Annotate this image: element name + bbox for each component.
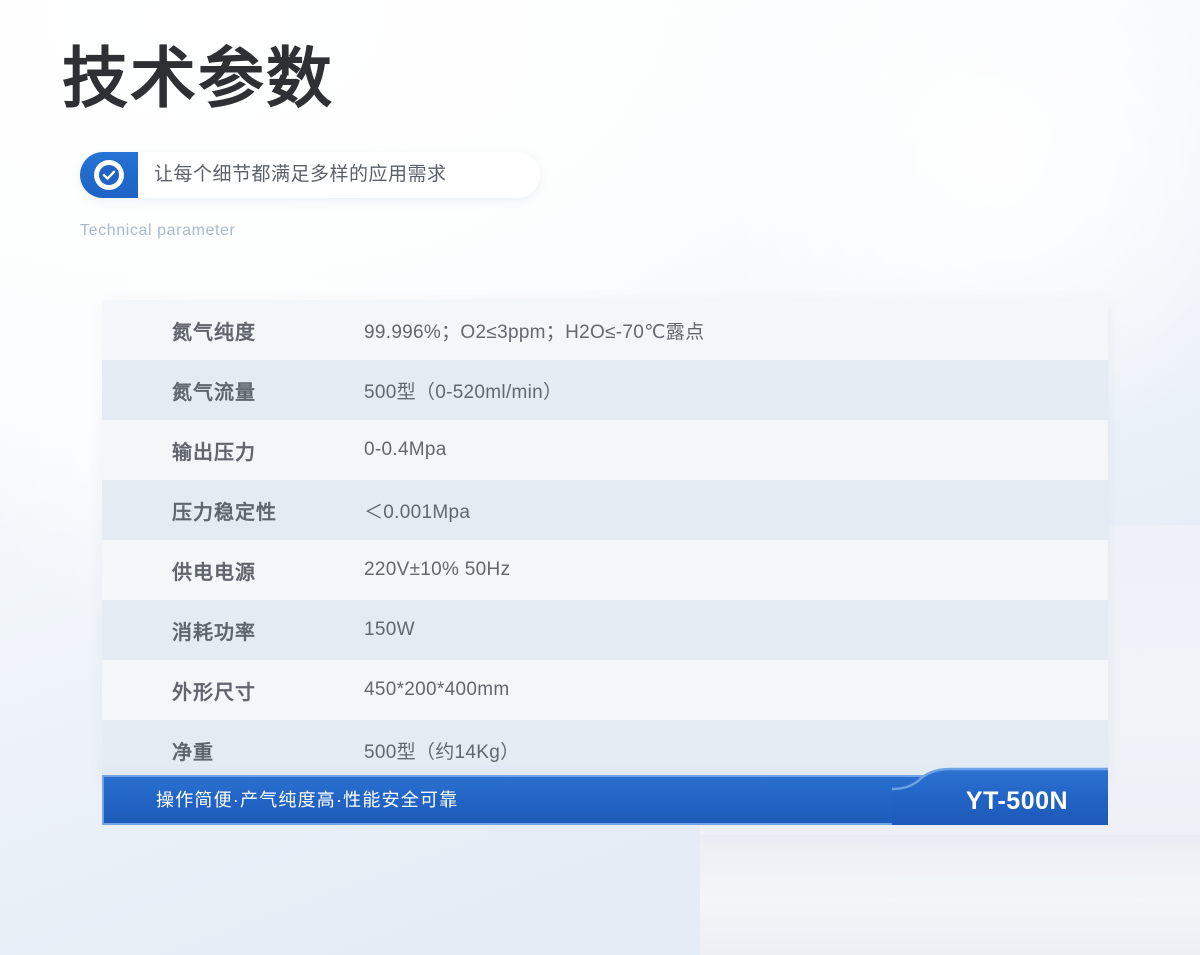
subtitle-text: 让每个细节都满足多样的应用需求 xyxy=(154,152,447,198)
table-row: 供电电源 220V±10% 50Hz xyxy=(102,540,1108,600)
table-row: 压力稳定性 ＜0.001Mpa xyxy=(102,480,1108,540)
table-row: 氮气流量 500型（0-520ml/min） xyxy=(102,360,1108,420)
page-title: 技术参数 xyxy=(62,46,334,112)
spec-label: 供电电源 xyxy=(102,556,332,585)
model-badge: YT-500N xyxy=(892,765,1108,827)
spec-value: 0-0.4Mpa xyxy=(332,439,1108,461)
spec-label: 氮气纯度 xyxy=(102,316,332,345)
spec-value: 150W xyxy=(332,619,1108,641)
photo-bench-surface xyxy=(700,835,1200,955)
spec-value: 500型（0-520ml/min） xyxy=(332,377,1108,404)
spec-value: 220V±10% 50Hz xyxy=(332,559,1108,581)
spec-label: 氮气流量 xyxy=(102,376,332,405)
spec-value: 99.996%；O2≤3ppm；H2O≤-70℃露点 xyxy=(332,317,1108,344)
spec-value: ＜0.001Mpa xyxy=(332,497,1108,524)
table-row: 消耗功率 150W xyxy=(102,600,1108,660)
table-row: 氮气纯度 99.996%；O2≤3ppm；H2O≤-70℃露点 xyxy=(102,300,1108,360)
footer-slogan: 操作简便·产气纯度高·性能安全可靠 xyxy=(156,775,458,825)
product-spec-page: 技术参数 让每个细节都满足多样的应用需求 Technical parameter… xyxy=(0,0,1200,955)
table-row: 外形尺寸 450*200*400mm xyxy=(102,660,1108,720)
spec-label: 输出压力 xyxy=(102,436,332,465)
model-number: YT-500N xyxy=(892,775,1108,827)
subtitle-check-badge xyxy=(80,152,138,198)
spec-label: 消耗功率 xyxy=(102,616,332,645)
spec-label: 外形尺寸 xyxy=(102,676,332,705)
spec-label: 净重 xyxy=(102,736,332,765)
check-circle-icon xyxy=(94,160,124,190)
spec-label: 压力稳定性 xyxy=(102,496,332,525)
spec-value: 450*200*400mm xyxy=(332,679,1108,701)
eyebrow-text: Technical parameter xyxy=(80,222,235,240)
table-row: 输出压力 0-0.4Mpa xyxy=(102,420,1108,480)
spec-value: 500型（约14Kg） xyxy=(332,737,1108,764)
spec-table: 氮气纯度 99.996%；O2≤3ppm；H2O≤-70℃露点 氮气流量 500… xyxy=(102,300,1108,780)
